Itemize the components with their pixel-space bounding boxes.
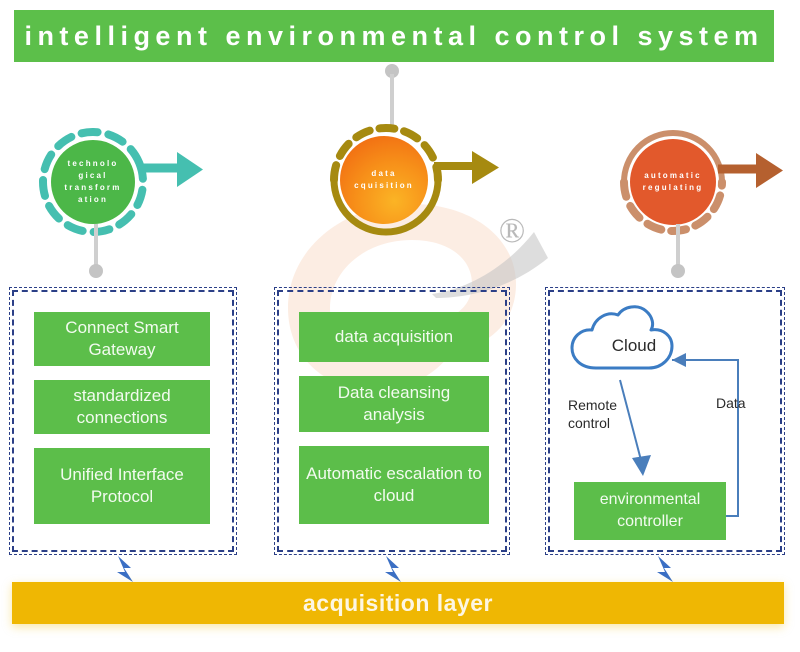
stage-1-disc: technolo gical transform ation — [51, 140, 135, 224]
stage-2-label-line-2: cquisition — [354, 180, 414, 192]
stage-data-acquisition[interactable]: data cquisition — [322, 124, 502, 240]
remote-control-label: Remote control — [568, 396, 658, 432]
panel-1-box-2[interactable]: standardized connections — [34, 380, 210, 434]
panel-2-box-3[interactable]: Automatic escalation to cloud — [299, 446, 489, 524]
panel-2-box-2[interactable]: Data cleansing analysis — [299, 376, 489, 432]
stage-1-label-line-1: technolo — [68, 158, 119, 170]
panel-1-box-1-label: Connect Smart Gateway — [40, 317, 204, 361]
stage-2-disc: data cquisition — [340, 136, 428, 224]
acquisition-layer-bar: acquisition layer — [12, 582, 784, 624]
panel-1-box-3-label: Unified Interface Protocol — [40, 464, 204, 508]
diagram-canvas: ® intelligent environmental control syst… — [0, 0, 800, 652]
stage-3-pin-icon — [670, 222, 686, 280]
page-title: intelligent environmental control system — [24, 21, 763, 52]
panel-1-box-1[interactable]: Connect Smart Gateway — [34, 312, 210, 366]
panel-connectivity: Connect Smart Gateway standardized conne… — [12, 290, 234, 552]
cloud-label: Cloud — [594, 336, 674, 356]
panel-2-box-1[interactable]: data acquisition — [299, 312, 489, 362]
stage-1-label-line-4: ation — [78, 194, 108, 206]
panel-2-box-2-label: Data cleansing analysis — [305, 382, 483, 426]
panel-control: Cloud Remote control Data environmental … — [548, 290, 782, 552]
stage-technological-transformation[interactable]: technolo gical transform ation — [34, 128, 204, 236]
stage-1-label-line-3: transform — [64, 182, 121, 194]
stage-3-label-line-1: automatic — [644, 170, 702, 182]
environmental-controller-box[interactable]: environmental controller — [574, 482, 726, 540]
panel-1-box-3[interactable]: Unified Interface Protocol — [34, 448, 210, 524]
stage-2-pin-icon — [384, 62, 400, 126]
stage-3-label-line-2: regulating — [643, 182, 704, 194]
acquisition-layer-label: acquisition layer — [303, 590, 493, 617]
panel-1-box-2-label: standardized connections — [40, 385, 204, 429]
data-label: Data — [716, 394, 776, 412]
panel-2-box-3-label: Automatic escalation to cloud — [305, 463, 483, 507]
stage-3-disc: automatic regulating — [630, 139, 716, 225]
stage-automatic-regulating[interactable]: automatic regulating — [614, 128, 784, 236]
stage-1-pin-icon — [88, 222, 104, 280]
page-title-bar: intelligent environmental control system — [14, 10, 774, 62]
panel-2-box-1-label: data acquisition — [335, 326, 453, 348]
stage-2-label-line-1: data — [371, 168, 396, 180]
environmental-controller-label: environmental controller — [580, 489, 720, 533]
panel-data: data acquisition Data cleansing analysis… — [277, 290, 507, 552]
stage-1-label-line-2: gical — [78, 170, 107, 182]
